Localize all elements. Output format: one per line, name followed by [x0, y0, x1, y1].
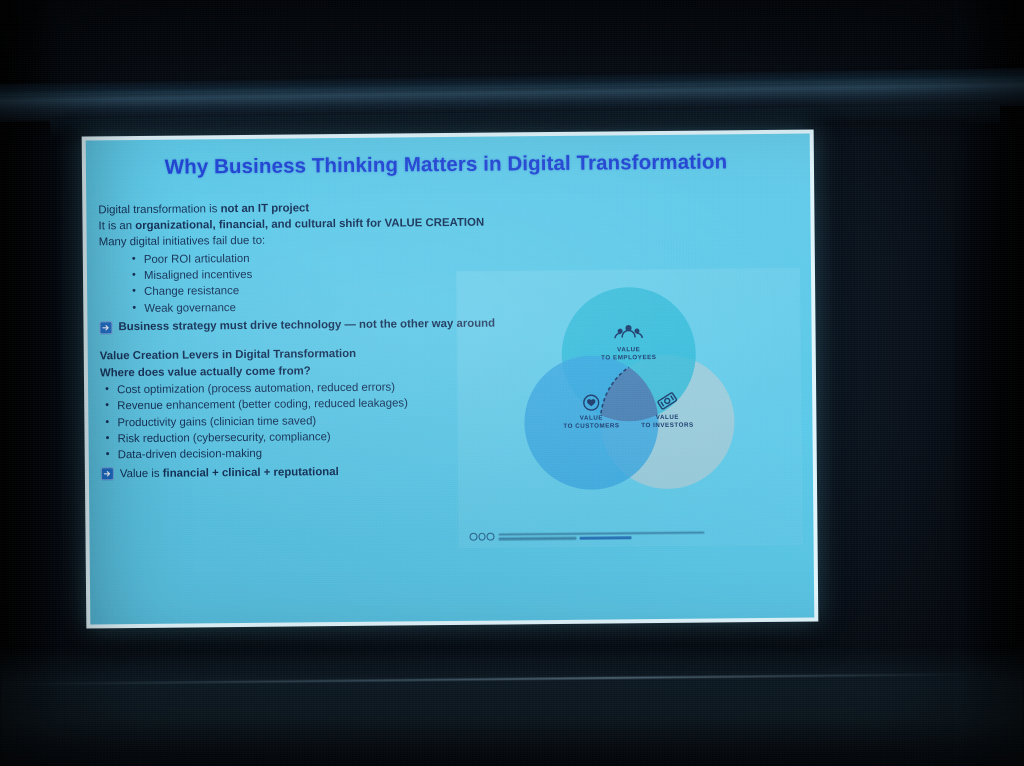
creative-commons-icon — [469, 533, 494, 541]
venn-diagram-panel: VALUE TO EMPLOYEES VALUE TO CUSTOMERS VA… — [457, 269, 802, 547]
intro-line-2-bold: organizational, financial, and cultural … — [135, 217, 484, 232]
callout-value-bold: financial + clinical + reputational — [163, 466, 339, 480]
dark-room-background: Why Business Thinking Matters in Digital… — [0, 0, 1024, 766]
venn-label-investors-line2: TO INVESTORS — [627, 422, 707, 431]
cc-badge — [478, 533, 486, 541]
arrow-right-icon — [101, 468, 114, 481]
room-floor — [0, 646, 1024, 766]
presentation-slide: Why Business Thinking Matters in Digital… — [86, 134, 815, 625]
callout-value-text: Value is financial + clinical + reputati… — [120, 464, 339, 482]
venn-label-customers-line2: TO CUSTOMERS — [551, 422, 631, 431]
intro-line-1-bold: not an IT project — [220, 202, 309, 215]
intro-line-2-plain: It is an — [98, 220, 135, 232]
callout-value-plain: Value is — [120, 468, 163, 480]
cc-badge — [486, 533, 494, 541]
venn-label-investors: VALUE TO INVESTORS — [627, 414, 707, 431]
projection-screen: Why Business Thinking Matters in Digital… — [82, 129, 819, 628]
venn-label-customers: VALUE TO CUSTOMERS — [551, 414, 631, 431]
venn-label-employees: VALUE TO EMPLOYEES — [589, 346, 669, 363]
license-text-segment — [498, 537, 576, 540]
intro-line-1-plain: Digital transformation is — [98, 203, 220, 216]
slide-title: Why Business Thinking Matters in Digital… — [116, 150, 776, 180]
arrow-right-icon — [99, 321, 112, 334]
venn-diagram — [457, 269, 802, 547]
cc-badge — [469, 533, 477, 541]
license-link[interactable] — [579, 536, 631, 540]
venn-label-employees-line2: TO EMPLOYEES — [589, 354, 669, 363]
